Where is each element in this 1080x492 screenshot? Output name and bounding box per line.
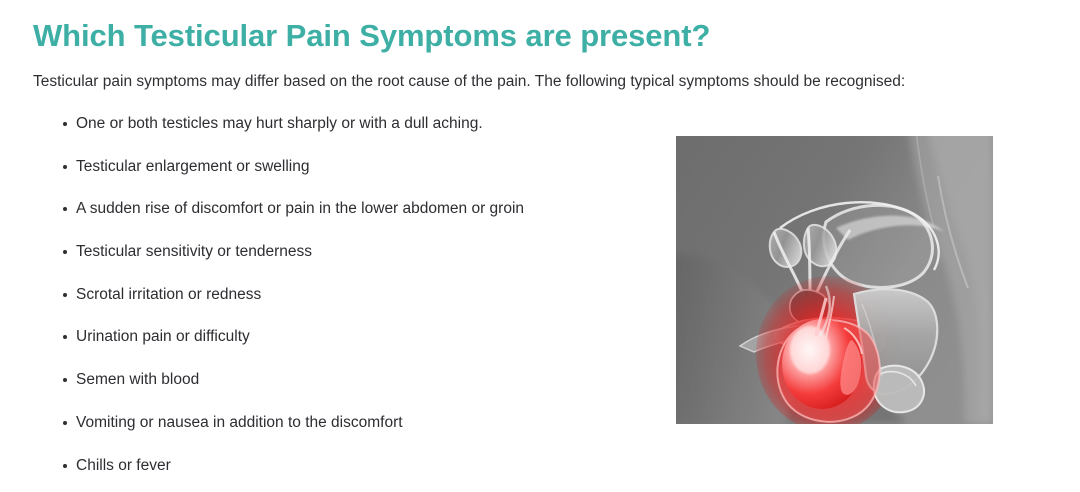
list-item-label: Vomiting or nausea in addition to the di… (76, 414, 403, 431)
list-item-label: A sudden rise of discomfort or pain in t… (76, 200, 524, 217)
list-item-label: Testicular sensitivity or tenderness (76, 243, 312, 260)
bullet-icon (63, 122, 67, 126)
list-item: Scrotal irritation or redness (42, 279, 642, 322)
bullet-icon (63, 378, 67, 382)
bullet-icon (63, 464, 67, 468)
list-item: Urination pain or difficulty (42, 321, 642, 364)
list-item-label: Chills or fever (76, 457, 171, 474)
bullet-icon (63, 165, 67, 169)
bullet-icon (63, 293, 67, 297)
anatomy-illustration (676, 136, 993, 424)
list-item-label: One or both testicles may hurt sharply o… (76, 115, 483, 132)
intro-paragraph: Testicular pain symptoms may differ base… (33, 71, 1033, 93)
list-item: Semen with blood (42, 364, 642, 407)
list-item-label: Scrotal irritation or redness (76, 286, 261, 303)
bullet-icon (63, 250, 67, 254)
list-item: One or both testicles may hurt sharply o… (42, 108, 642, 151)
list-item: Chills or fever (42, 450, 642, 492)
list-item: Testicular sensitivity or tenderness (42, 236, 642, 279)
symptom-list: One or both testicles may hurt sharply o… (42, 108, 642, 492)
list-item: Vomiting or nausea in addition to the di… (42, 407, 642, 450)
list-item-label: Testicular enlargement or swelling (76, 158, 309, 175)
article-page: Which Testicular Pain Symptoms are prese… (0, 0, 1080, 491)
bullet-icon (63, 207, 67, 211)
list-item-label: Urination pain or difficulty (76, 328, 250, 345)
bullet-icon (63, 335, 67, 339)
list-item: A sudden rise of discomfort or pain in t… (42, 193, 642, 236)
list-item-label: Semen with blood (76, 371, 199, 388)
page-title: Which Testicular Pain Symptoms are prese… (33, 16, 710, 56)
list-item: Testicular enlargement or swelling (42, 151, 642, 194)
bullet-icon (63, 421, 67, 425)
